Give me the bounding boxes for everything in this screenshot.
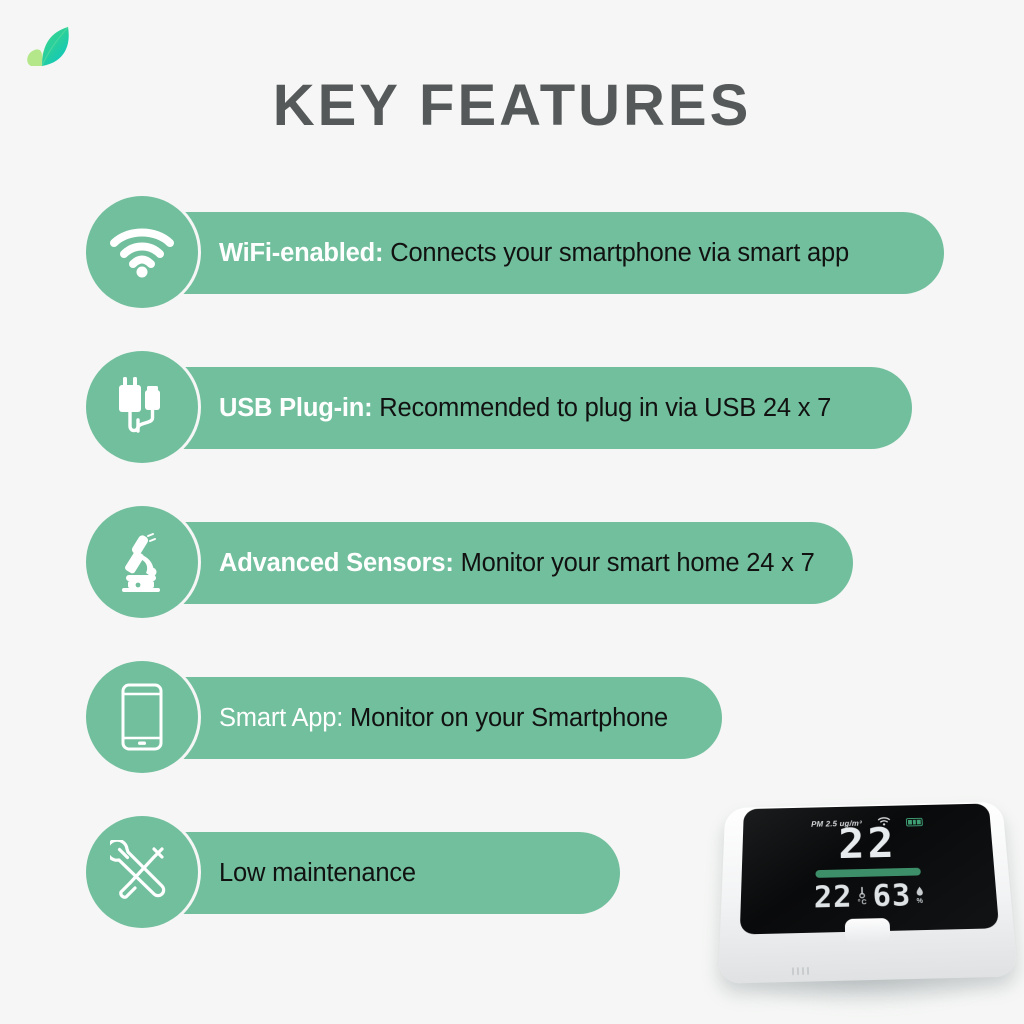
feature-pill[interactable]: USB Plug-in: Recommended to plug in via …	[140, 367, 912, 449]
droplet-icon: %	[916, 886, 924, 906]
pm-value: 22	[742, 820, 994, 869]
temperature-value: 22	[814, 880, 853, 916]
feature-pill[interactable]: Advanced Sensors: Monitor your smart hom…	[140, 522, 853, 604]
thermometer-icon: °C	[857, 886, 867, 907]
feature-row[interactable]: WiFi-enabled: Connects your smartphone v…	[0, 196, 1024, 308]
feature-body: Recommended to plug in via USB 24 x 7	[372, 394, 831, 422]
feature-body: Monitor on your Smartphone	[343, 704, 668, 732]
feature-text: WiFi-enabled: Connects your smartphone v…	[219, 212, 849, 294]
air-quality-monitor-device: PM 2.5 ug/m³ 22 2	[700, 770, 1024, 1024]
feature-lead: WiFi-enabled:	[219, 239, 383, 267]
feature-text: USB Plug-in: Recommended to plug in via …	[219, 367, 831, 449]
device-button[interactable]	[845, 918, 891, 942]
feature-pill[interactable]: Low maintenance	[140, 832, 620, 914]
feature-lead: USB Plug-in:	[219, 394, 372, 422]
usb-plug-icon[interactable]	[86, 351, 198, 463]
poster-canvas: KEY FEATURES WiFi-enabled: Connects your…	[0, 0, 1024, 1024]
air-quality-bar	[815, 868, 920, 878]
feature-lead: Advanced Sensors:	[219, 549, 454, 577]
feature-lead: Smart App:	[219, 704, 343, 732]
feature-row[interactable]: Smart App: Monitor on your Smartphone	[0, 661, 1024, 773]
feature-row[interactable]: USB Plug-in: Recommended to plug in via …	[0, 351, 1024, 463]
tools-icon[interactable]	[86, 816, 198, 928]
device-screen: PM 2.5 ug/m³ 22 2	[740, 803, 999, 934]
microscope-icon[interactable]	[86, 506, 198, 618]
feature-body: Low maintenance	[219, 859, 416, 887]
feature-text: Smart App: Monitor on your Smartphone	[219, 677, 668, 759]
feature-text: Advanced Sensors: Monitor your smart hom…	[219, 522, 815, 604]
device-vents	[792, 967, 818, 976]
humidity-value: 63	[872, 879, 912, 914]
feature-text: Low maintenance	[219, 832, 416, 914]
feature-body: Connects your smartphone via smart app	[383, 239, 849, 267]
feature-pill[interactable]: Smart App: Monitor on your Smartphone	[140, 677, 722, 759]
wifi-icon[interactable]	[86, 196, 198, 308]
smartphone-icon[interactable]	[86, 661, 198, 773]
page-title: KEY FEATURES	[0, 70, 1024, 142]
feature-pill[interactable]: WiFi-enabled: Connects your smartphone v…	[140, 212, 944, 294]
feature-body: Monitor your smart home 24 x 7	[454, 549, 815, 577]
device-readings: 22 °C 63 %	[740, 877, 997, 918]
feature-row[interactable]: Advanced Sensors: Monitor your smart hom…	[0, 506, 1024, 618]
temperature-unit: °C	[858, 898, 868, 907]
humidity-unit: %	[916, 896, 924, 905]
